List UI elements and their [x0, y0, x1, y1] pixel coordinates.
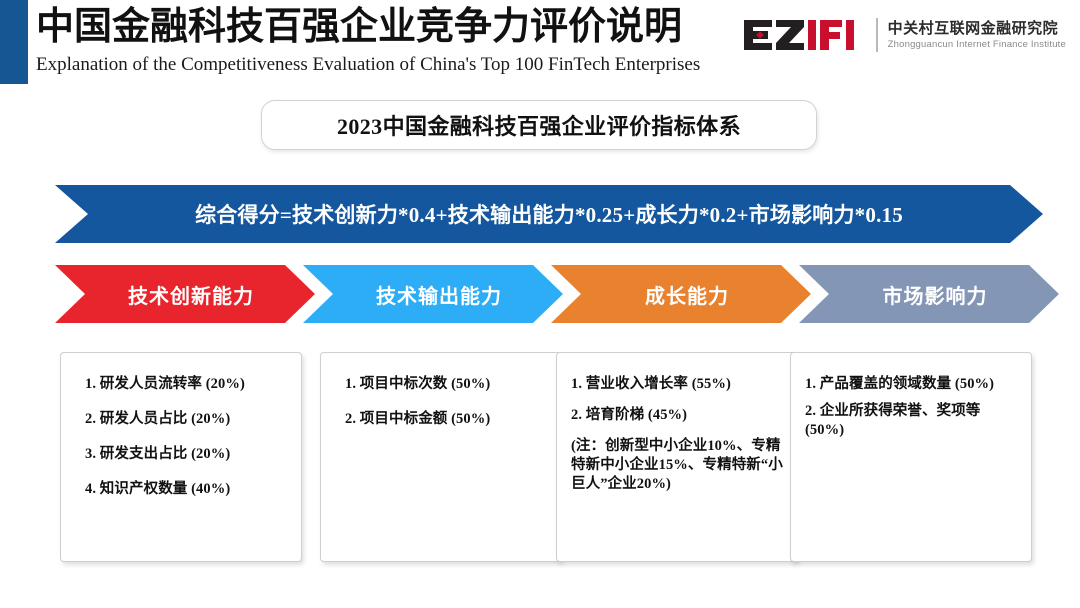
indicator-card-market-influence: 1. 产品覆盖的领域数量 (50%) 2. 企业所获得荣誉、奖项等 (50%): [790, 352, 1032, 562]
indicator-item: 1. 营业收入增长率 (55%): [571, 375, 783, 394]
composite-score-formula-banner: 综合得分=技术创新力*0.4+技术输出能力*0.25+成长力*0.2+市场影响力…: [55, 185, 1043, 243]
logo-text-block: 中关村互联网金融研究院 Zhongguancun Internet Financ…: [888, 21, 1066, 50]
czifi-logo-icon: [742, 18, 864, 52]
title-block: 中国金融科技百强企业竞争力评价说明 Explanation of the Com…: [36, 4, 736, 78]
dimension-chevron-tech-output: 技术输出能力: [303, 265, 563, 323]
indicator-item: 1. 研发人员流转率 (20%): [75, 375, 287, 394]
dimension-chevron-row: 技术创新能力 技术输出能力 成长能力 市场影响力: [0, 265, 1080, 323]
indicator-card-growth: 1. 营业收入增长率 (55%) 2. 培育阶梯 (45%) (注：创新型中小企…: [556, 352, 798, 562]
indicator-card-tech-output: 1. 项目中标次数 (50%) 2. 项目中标金额 (50%): [320, 352, 562, 562]
logo-name-en: Zhongguancun Internet Finance Institute: [888, 40, 1066, 50]
logo-name-cn: 中关村互联网金融研究院: [888, 21, 1066, 36]
indicator-item: 1. 产品覆盖的领域数量 (50%): [805, 375, 1017, 394]
page-header: 中国金融科技百强企业竞争力评价说明 Explanation of the Com…: [0, 0, 1080, 92]
logo-divider: [876, 18, 878, 52]
header-accent-bar: [0, 0, 28, 84]
composite-score-formula-text: 综合得分=技术创新力*0.4+技术输出能力*0.25+成长力*0.2+市场影响力…: [195, 199, 903, 229]
indicator-card-row: 1. 研发人员流转率 (20%) 2. 研发人员占比 (20%) 3. 研发支出…: [0, 352, 1080, 564]
indicator-item: 2. 企业所获得荣誉、奖项等 (50%): [805, 402, 1017, 440]
dimension-chevron-label: 技术输出能力: [376, 280, 502, 309]
dimension-chevron-growth: 成长能力: [551, 265, 811, 323]
dimension-chevron-label: 技术创新能力: [128, 280, 254, 309]
indicator-item: 4. 知识产权数量 (40%): [75, 480, 287, 499]
indicator-system-title-box: 2023中国金融科技百强企业评价指标体系: [261, 100, 817, 150]
indicator-item: 2. 培育阶梯 (45%): [571, 406, 783, 425]
page-subtitle-english: Explanation of the Competitiveness Evalu…: [36, 52, 736, 78]
dimension-chevron-label: 成长能力: [645, 280, 729, 309]
indicator-item: 2. 项目中标金额 (50%): [335, 410, 547, 429]
dimension-chevron-tech-innovation: 技术创新能力: [55, 265, 315, 323]
page-title: 中国金融科技百强企业竞争力评价说明: [36, 4, 736, 50]
dimension-chevron-market-influence: 市场影响力: [799, 265, 1059, 323]
indicator-item-note: (注：创新型中小企业10%、专精特新中小企业15%、专精特新“小巨人”企业20%…: [571, 437, 783, 494]
indicator-item: 3. 研发支出占比 (20%): [75, 445, 287, 464]
dimension-chevron-label: 市场影响力: [883, 280, 988, 309]
indicator-item: 2. 研发人员占比 (20%): [75, 410, 287, 429]
institute-logo: 中关村互联网金融研究院 Zhongguancun Internet Financ…: [742, 14, 1066, 56]
indicator-card-tech-innovation: 1. 研发人员流转率 (20%) 2. 研发人员占比 (20%) 3. 研发支出…: [60, 352, 302, 562]
indicator-system-title: 2023中国金融科技百强企业评价指标体系: [337, 109, 741, 141]
indicator-item: 1. 项目中标次数 (50%): [335, 375, 547, 394]
